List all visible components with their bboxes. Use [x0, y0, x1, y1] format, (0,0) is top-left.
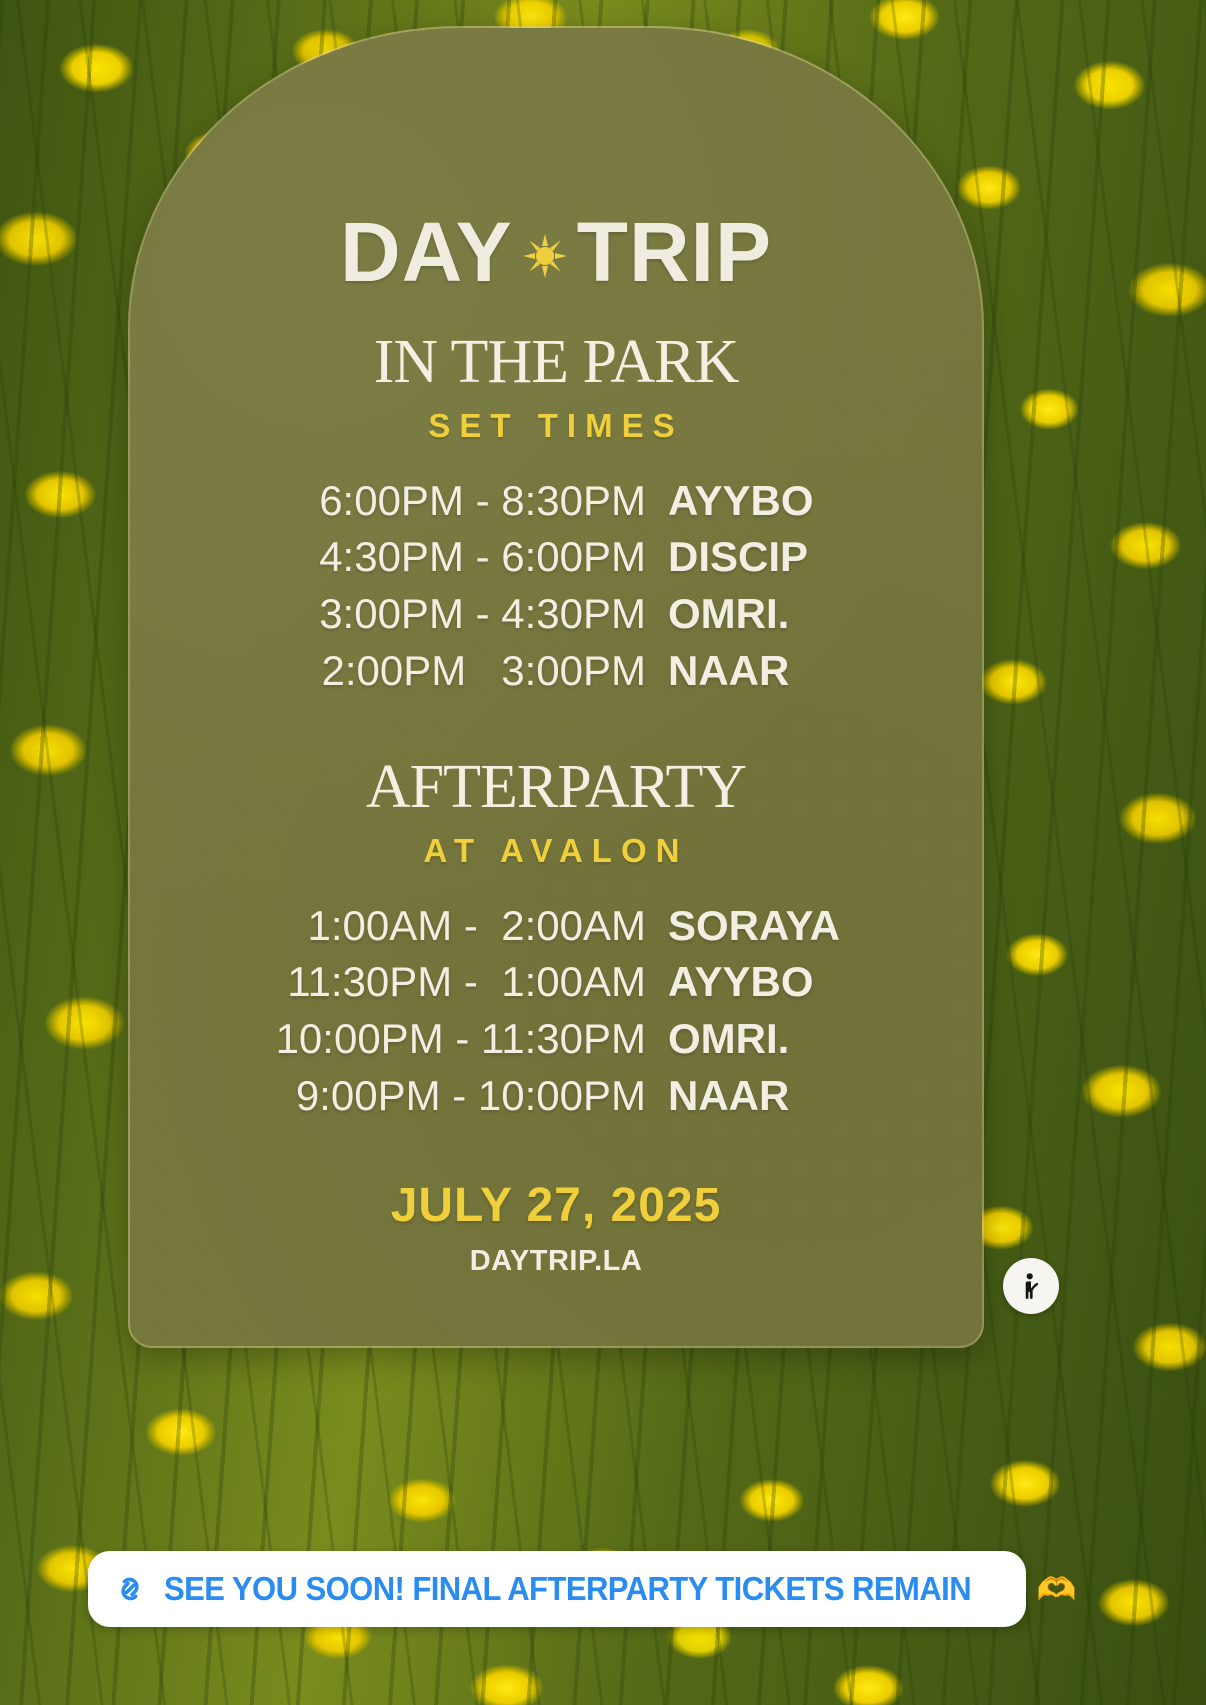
link-sticker[interactable]: SEE YOU SOON! FINAL AFTERPARTY TICKETS R… [88, 1551, 1026, 1627]
section-title-afterparty: AFTERPARTY [130, 756, 982, 818]
set-times-list-afterparty: 1:00AM - 2:00AM SORAYA 11:30PM - 1:00AM … [130, 898, 982, 1125]
set-artist-name: AYYBO [646, 954, 846, 1011]
set-time-row: 9:00PM - 10:00PM NAAR [130, 1068, 982, 1125]
sun-icon [523, 234, 567, 278]
event-url: DAYTRIP.LA [130, 1245, 982, 1278]
set-time-row: 6:00PM - 8:30PM AYYBO [130, 473, 982, 530]
set-time-range: 10:00PM - 11:30PM [266, 1011, 646, 1068]
set-time-row: 1:00AM - 2:00AM SORAYA [130, 898, 982, 955]
set-time-range: 6:00PM - 8:30PM [290, 473, 646, 530]
story-screen: DAY [0, 0, 1206, 1705]
section-title-in-the-park: IN THE PARK [130, 331, 982, 393]
set-artist-name: NAAR [646, 643, 822, 700]
set-time-range: 4:30PM - 6:00PM [290, 529, 646, 586]
event-date: JULY 27, 2025 [130, 1178, 982, 1233]
set-time-range: 9:00PM - 10:00PM [266, 1068, 646, 1125]
set-time-range: 1:00AM - 2:00AM [266, 898, 646, 955]
set-time-row: 10:00PM - 11:30PM OMRI. [130, 1011, 982, 1068]
set-time-row: 11:30PM - 1:00AM AYYBO [130, 954, 982, 1011]
set-times-list-park: 6:00PM - 8:30PM AYYBO 4:30PM - 6:00PM DI… [130, 473, 982, 700]
section-subtitle-set-times: SET TIMES [130, 407, 982, 445]
set-artist-name: OMRI. [646, 586, 822, 643]
link-chain-icon [110, 1569, 150, 1609]
section-subtitle-at-avalon: AT AVALON [130, 832, 982, 870]
event-poster-card: DAY [130, 28, 982, 1346]
set-artist-name: DISCIP [646, 529, 822, 586]
set-time-row: 2:00PM 3:00PM NAAR [130, 643, 982, 700]
set-artist-name: AYYBO [646, 473, 822, 530]
heart-hands-emoji-icon: 🫶 [1037, 1573, 1077, 1605]
person-raising-hand-icon [1014, 1267, 1048, 1306]
set-artist-name: SORAYA [646, 898, 846, 955]
set-artist-name: NAAR [646, 1068, 846, 1125]
set-artist-name: OMRI. [646, 1011, 846, 1068]
link-sticker-label: SEE YOU SOON! FINAL AFTERPARTY TICKETS R… [164, 1570, 971, 1608]
profile-badge[interactable] [1003, 1258, 1059, 1314]
daytrip-wordmark: DAY [130, 213, 982, 293]
set-time-row: 4:30PM - 6:00PM DISCIP [130, 529, 982, 586]
wordmark-trip: TRIP [577, 213, 772, 293]
set-time-range: 2:00PM 3:00PM [290, 643, 646, 700]
set-time-row: 3:00PM - 4:30PM OMRI. [130, 586, 982, 643]
set-time-range: 11:30PM - 1:00AM [266, 954, 646, 1011]
set-time-range: 3:00PM - 4:30PM [290, 586, 646, 643]
wordmark-day: DAY [340, 213, 513, 293]
